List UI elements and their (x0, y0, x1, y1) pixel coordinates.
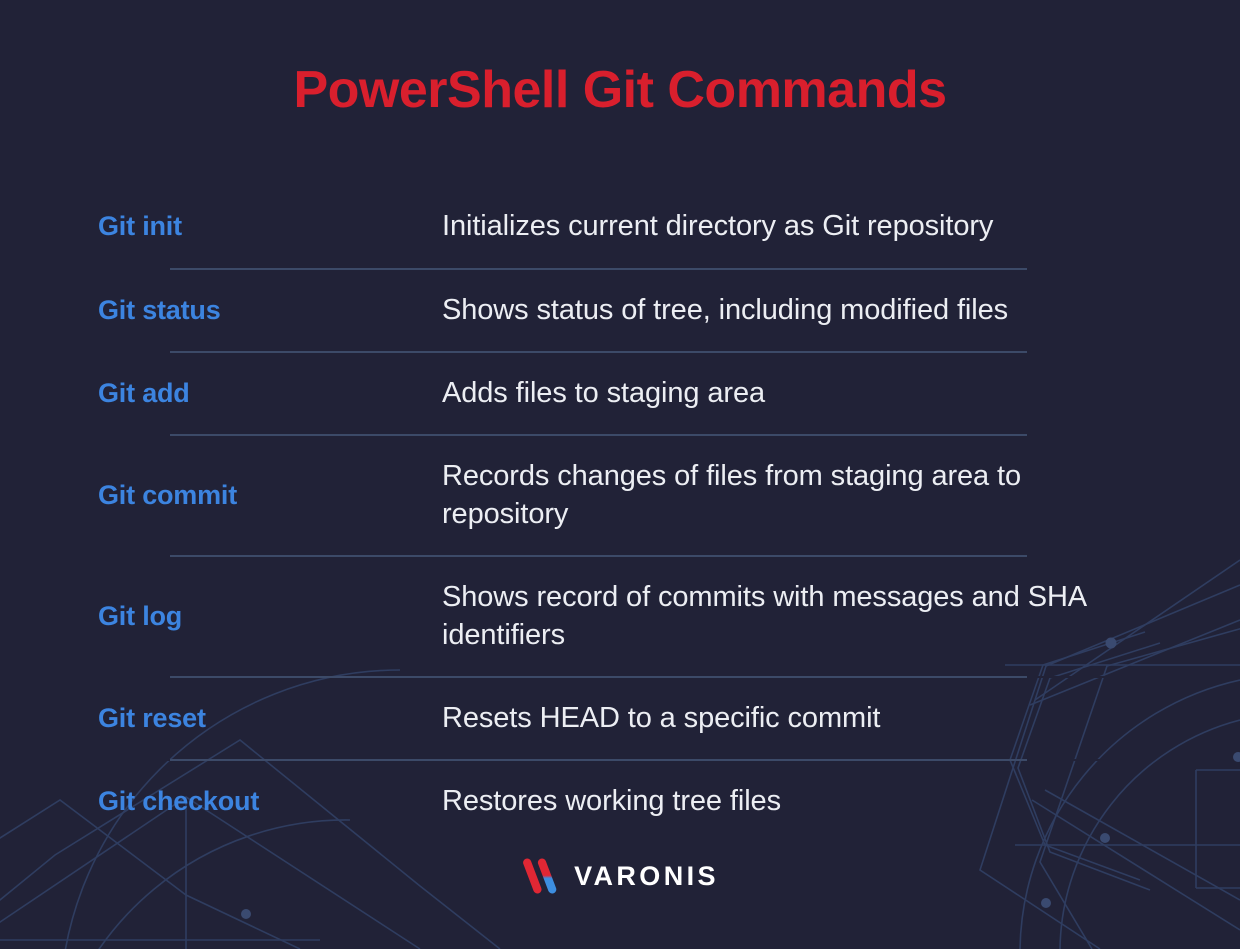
command-name: Git reset (98, 703, 442, 734)
command-description: Records changes of files from staging ar… (442, 458, 1142, 532)
table-row: Git log Shows record of commits with mes… (98, 555, 1142, 676)
command-description: Shows status of tree, including modified… (442, 292, 1142, 329)
command-description: Restores working tree files (442, 783, 1142, 820)
varonis-logo: VARONIS (0, 858, 1240, 894)
command-description: Adds files to staging area (442, 375, 1142, 412)
command-name: Git add (98, 378, 442, 409)
command-name: Git status (98, 295, 442, 326)
varonis-double-slash-mark (521, 858, 561, 894)
command-name: Git checkout (98, 786, 442, 817)
command-name: Git commit (98, 480, 442, 511)
command-description: Shows record of commits with messages an… (442, 579, 1142, 653)
table-row: Git init Initializes current directory a… (98, 185, 1142, 268)
table-row: Git reset Resets HEAD to a specific comm… (98, 676, 1142, 759)
page-title: PowerShell Git Commands (0, 62, 1240, 119)
command-description: Resets HEAD to a specific commit (442, 700, 1142, 737)
table-row: Git commit Records changes of files from… (98, 434, 1142, 555)
command-name: Git init (98, 211, 442, 242)
git-commands-table: Git init Initializes current directory a… (98, 185, 1142, 842)
infographic-canvas: PowerShell Git Commands Git init Initial… (0, 0, 1240, 949)
table-row: Git status Shows status of tree, includi… (98, 268, 1142, 351)
varonis-wordmark: VARONIS (574, 863, 719, 890)
table-row: Git add Adds files to staging area (98, 351, 1142, 434)
table-row: Git checkout Restores working tree files (98, 759, 1142, 842)
command-name: Git log (98, 601, 442, 632)
command-description: Initializes current directory as Git rep… (442, 208, 1142, 245)
